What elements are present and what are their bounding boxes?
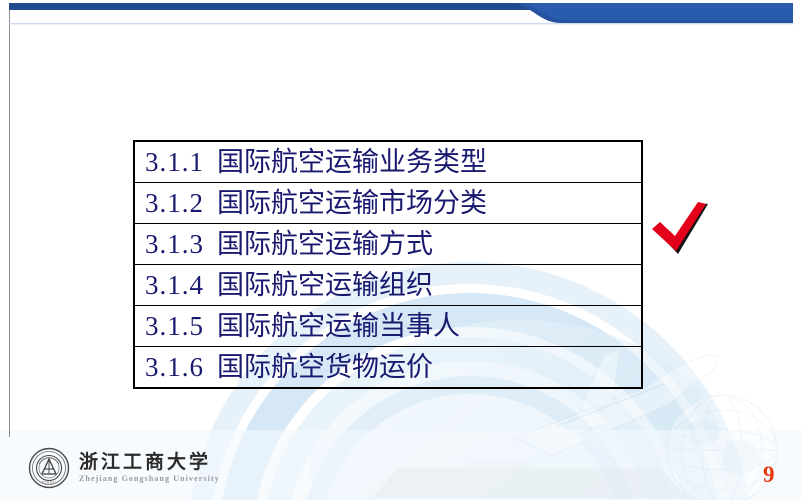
table-cell[interactable]: 3.1.3国际航空运输方式 — [134, 224, 642, 265]
table-row[interactable]: 3.1.5国际航空运输当事人 — [134, 306, 642, 347]
svg-text:ZJGSU: ZJGSU — [42, 480, 57, 484]
slide-canvas: 3.1.1国际航空运输业务类型 3.1.2国际航空运输市场分类 3.1.3国际航… — [0, 0, 801, 500]
red-check-icon — [648, 200, 720, 262]
table-cell[interactable]: 3.1.2国际航空运输市场分类 — [134, 183, 642, 224]
contents-table: 3.1.1国际航空运输业务类型 3.1.2国际航空运输市场分类 3.1.3国际航… — [133, 140, 643, 389]
section-number: 3.1.5 — [145, 311, 204, 341]
table-cell[interactable]: 3.1.4国际航空运输组织 — [134, 265, 642, 306]
section-title: 国际航空运输市场分类 — [217, 188, 487, 218]
table-cell[interactable]: 3.1.6国际航空货物运价 — [134, 347, 642, 389]
section-title: 国际航空运输方式 — [217, 229, 433, 259]
university-seal-icon: ZJGSU — [28, 447, 70, 489]
section-number: 3.1.3 — [145, 229, 204, 259]
table-row[interactable]: 3.1.4国际航空运输组织 — [134, 265, 642, 306]
page-number: 9 — [763, 463, 775, 486]
banner-shape — [0, 0, 801, 34]
university-logo: ZJGSU 浙江工商大学 Zhejiang Gongshang Universi… — [28, 443, 228, 493]
top-banner — [0, 0, 801, 34]
table-row[interactable]: 3.1.2国际航空运输市场分类 — [134, 183, 642, 224]
section-number: 3.1.6 — [145, 352, 204, 382]
section-title: 国际航空货物运价 — [217, 352, 433, 382]
table-row[interactable]: 3.1.3国际航空运输方式 — [134, 224, 642, 265]
section-number: 3.1.4 — [145, 270, 204, 300]
section-number: 3.1.1 — [145, 147, 204, 177]
section-title: 国际航空运输组织 — [217, 270, 433, 300]
table-cell[interactable]: 3.1.1国际航空运输业务类型 — [134, 141, 642, 183]
university-name-cn: 浙江工商大学 — [79, 453, 220, 473]
section-title: 国际航空运输当事人 — [217, 311, 460, 341]
section-title: 国际航空运输业务类型 — [217, 147, 487, 177]
check-icon — [648, 200, 720, 262]
university-name-en: Zhejiang Gongshang University — [79, 474, 220, 483]
table-row[interactable]: 3.1.1国际航空运输业务类型 — [134, 141, 642, 183]
section-number: 3.1.2 — [145, 188, 204, 218]
table-cell[interactable]: 3.1.5国际航空运输当事人 — [134, 306, 642, 347]
table-row[interactable]: 3.1.6国际航空货物运价 — [134, 347, 642, 389]
